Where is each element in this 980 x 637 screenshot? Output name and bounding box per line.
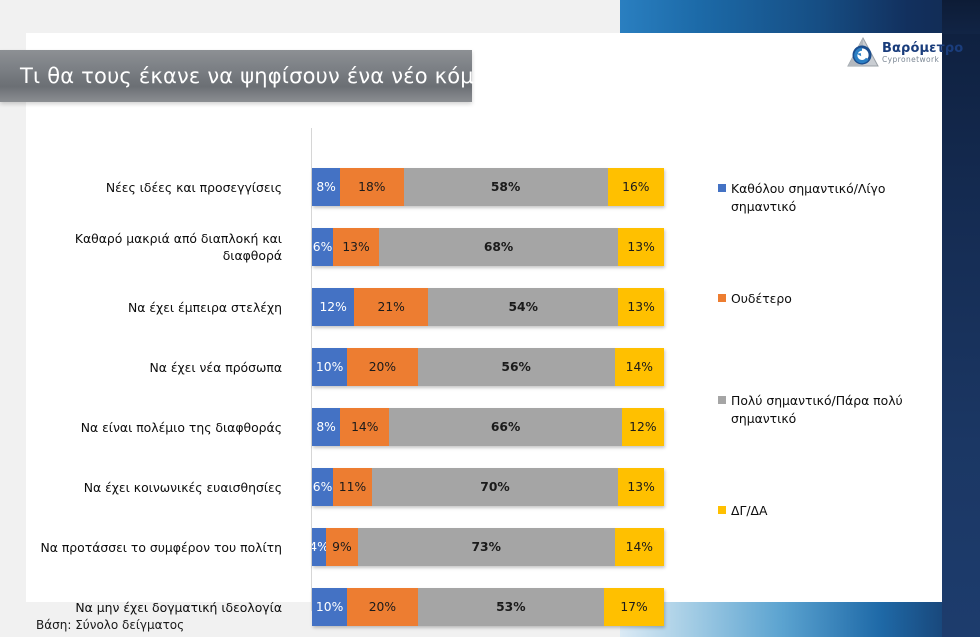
table-row[interactable]: 12%21%54%13% bbox=[312, 288, 664, 326]
bar-segment[interactable]: 73% bbox=[358, 528, 615, 566]
category-label: Καθαρό μακριά από διαπλοκή και διαφθορά bbox=[22, 230, 282, 264]
bar-segment[interactable]: 14% bbox=[615, 348, 664, 386]
bar-segment[interactable]: 13% bbox=[618, 468, 664, 506]
bar-segment-label: 12% bbox=[629, 420, 656, 434]
bar-segment[interactable]: 4% bbox=[312, 528, 326, 566]
bar-segment-label: 6% bbox=[313, 480, 333, 494]
bar-segment-label: 8% bbox=[316, 420, 336, 434]
category-label: Να μην έχει δογματική ιδεολογία bbox=[22, 599, 282, 616]
legend-label: ΔΓ/ΔΑ bbox=[731, 502, 768, 520]
category-label: Να είναι πολέμιο της διαφθοράς bbox=[22, 419, 282, 436]
bar-segment-label: 9% bbox=[332, 540, 352, 554]
category-label: Να προτάσσει το συμφέρον του πολίτη bbox=[22, 539, 282, 556]
right-navy-strip-top bbox=[942, 0, 980, 34]
category-label: Νέες ιδέες και προσεγγίσεις bbox=[22, 179, 282, 196]
legend-label: Ουδέτερο bbox=[731, 290, 792, 308]
legend-swatch-icon bbox=[718, 396, 726, 404]
bar-segment-label: 54% bbox=[508, 300, 537, 314]
bar-segment-label: 21% bbox=[378, 300, 405, 314]
bar-segment-label: 4% bbox=[312, 540, 326, 554]
bar-segment[interactable]: 56% bbox=[418, 348, 615, 386]
bar-segment-label: 66% bbox=[491, 420, 520, 434]
bar-segment[interactable]: 53% bbox=[418, 588, 605, 626]
bar-segment-label: 13% bbox=[342, 240, 369, 254]
legend-item[interactable]: Ουδέτερο bbox=[718, 290, 908, 308]
category-label: Να έχει έμπειρα στελέχη bbox=[22, 299, 282, 316]
bar-segment[interactable]: 70% bbox=[372, 468, 618, 506]
bar-segment[interactable]: 12% bbox=[622, 408, 664, 446]
bar-segment-label: 53% bbox=[496, 600, 525, 614]
legend-swatch-icon bbox=[718, 294, 726, 302]
bar-segment[interactable]: 21% bbox=[354, 288, 428, 326]
bar-segment[interactable]: 66% bbox=[389, 408, 621, 446]
bar-segment[interactable]: 14% bbox=[340, 408, 389, 446]
bar-segment-label: 14% bbox=[626, 360, 653, 374]
bar-segment-label: 13% bbox=[627, 480, 654, 494]
bar-segment[interactable]: 13% bbox=[333, 228, 379, 266]
bar-segment[interactable]: 10% bbox=[312, 348, 347, 386]
bar-segment[interactable]: 8% bbox=[312, 408, 340, 446]
bar-segment[interactable]: 58% bbox=[404, 168, 608, 206]
legend-item[interactable]: Πολύ σημαντικό/Πάρα πολύ σημαντικό bbox=[718, 392, 908, 428]
bar-segment[interactable]: 14% bbox=[615, 528, 664, 566]
bar-segment-label: 17% bbox=[620, 600, 647, 614]
bar-segment[interactable]: 20% bbox=[347, 348, 417, 386]
bar-segment[interactable]: 8% bbox=[312, 168, 340, 206]
bar-segment[interactable]: 6% bbox=[312, 468, 333, 506]
slide-background: Τι θα τους έκανε να ψηφίσουν ένα νέο κόμ… bbox=[0, 0, 980, 637]
bar-segment[interactable]: 12% bbox=[312, 288, 354, 326]
bar-segment[interactable]: 68% bbox=[379, 228, 618, 266]
bar-segment[interactable]: 16% bbox=[608, 168, 664, 206]
bar-segment-label: 73% bbox=[472, 540, 501, 554]
bar-segment-label: 56% bbox=[501, 360, 530, 374]
bar-segment-label: 12% bbox=[319, 300, 346, 314]
bar-segment[interactable]: 9% bbox=[326, 528, 358, 566]
bar-segment[interactable]: 17% bbox=[604, 588, 664, 626]
bar-segment-label: 20% bbox=[369, 360, 396, 374]
bar-segment-label: 13% bbox=[627, 240, 654, 254]
category-label: Να έχει κοινωνικές ευαισθησίες bbox=[22, 479, 282, 496]
bar-segment-label: 10% bbox=[316, 600, 343, 614]
bar-segment[interactable]: 20% bbox=[347, 588, 417, 626]
table-row[interactable]: 6%11%70%13% bbox=[312, 468, 664, 506]
table-row[interactable]: 10%20%53%17% bbox=[312, 588, 664, 626]
bar-segment[interactable]: 54% bbox=[428, 288, 618, 326]
bar-segment[interactable]: 10% bbox=[312, 588, 347, 626]
table-row[interactable]: 4%9%73%14% bbox=[312, 528, 664, 566]
bar-segment-label: 16% bbox=[622, 180, 649, 194]
table-row[interactable]: 10%20%56%14% bbox=[312, 348, 664, 386]
legend-swatch-icon bbox=[718, 184, 726, 192]
bar-segment-label: 68% bbox=[484, 240, 513, 254]
chart-footnote: Βάση: Σύνολο δείγματος bbox=[36, 618, 184, 632]
bar-segment-label: 18% bbox=[358, 180, 385, 194]
legend-swatch-icon bbox=[718, 506, 726, 514]
bar-segment[interactable]: 11% bbox=[333, 468, 372, 506]
bar-segment[interactable]: 18% bbox=[340, 168, 403, 206]
bar-segment-label: 14% bbox=[351, 420, 378, 434]
legend-label: Πολύ σημαντικό/Πάρα πολύ σημαντικό bbox=[731, 392, 908, 428]
table-row[interactable]: 8%14%66%12% bbox=[312, 408, 664, 446]
bar-segment-label: 13% bbox=[627, 300, 654, 314]
bar-segment-label: 11% bbox=[339, 480, 366, 494]
top-blue-band bbox=[620, 0, 980, 33]
bar-segment[interactable]: 13% bbox=[618, 288, 664, 326]
bar-segment-label: 14% bbox=[626, 540, 653, 554]
bar-segment-label: 70% bbox=[480, 480, 509, 494]
table-row[interactable]: 8%18%58%16% bbox=[312, 168, 664, 206]
right-navy-strip bbox=[942, 0, 980, 637]
bar-segment-label: 58% bbox=[491, 180, 520, 194]
category-label: Να έχει νέα πρόσωπα bbox=[22, 359, 282, 376]
bar-segment-label: 8% bbox=[316, 180, 336, 194]
bar-segment-label: 20% bbox=[369, 600, 396, 614]
legend-label: Καθόλου σημαντικό/Λίγο σημαντικό bbox=[731, 180, 908, 216]
bar-segment[interactable]: 13% bbox=[618, 228, 664, 266]
bar-segment-label: 6% bbox=[313, 240, 333, 254]
bar-segment-label: 10% bbox=[316, 360, 343, 374]
bar-segment[interactable]: 6% bbox=[312, 228, 333, 266]
legend-item[interactable]: ΔΓ/ΔΑ bbox=[718, 502, 908, 520]
table-row[interactable]: 6%13%68%13% bbox=[312, 228, 664, 266]
bottom-blue-band bbox=[620, 602, 980, 637]
legend-item[interactable]: Καθόλου σημαντικό/Λίγο σημαντικό bbox=[718, 180, 908, 216]
